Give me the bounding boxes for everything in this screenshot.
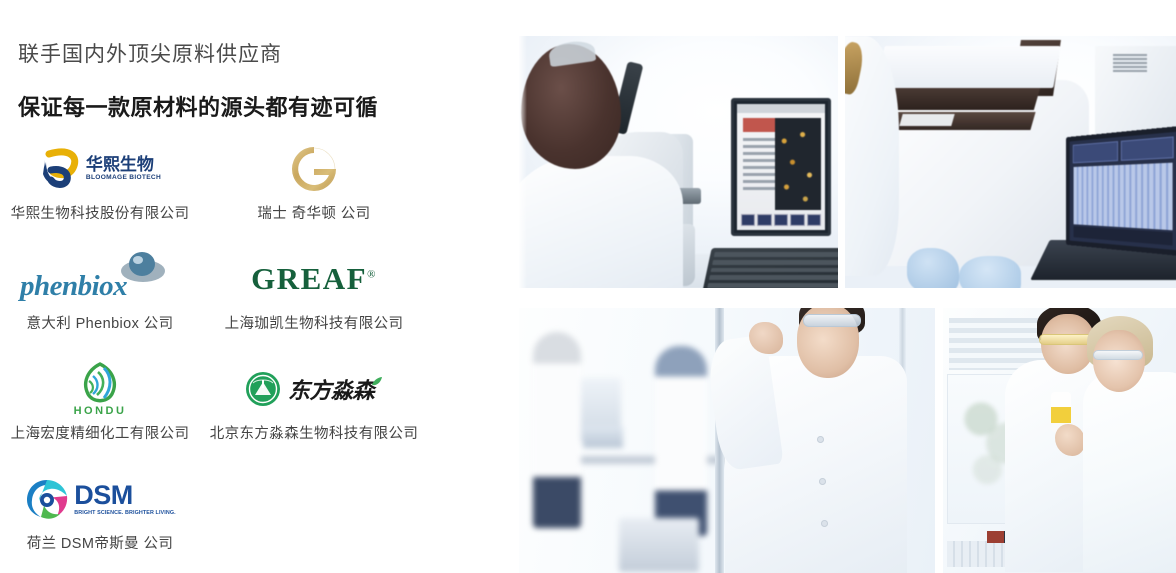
- dongfang-miaosen-emblem-icon: [245, 371, 281, 407]
- supplier-caption: 华熙生物科技股份有限公司: [11, 202, 190, 223]
- page-title: 保证每一款原材料的源头都有迹可循: [18, 90, 378, 122]
- hondu-leaf-icon: [78, 362, 122, 404]
- dsm-logo: DSM BRIGHT SCIENCE. BRIGHTER LIVING.: [0, 470, 200, 528]
- supplier-card-bloomage[interactable]: 华熙生物 BLOOMAGE BIOTECH 华熙生物科技股份有限公司: [0, 140, 200, 250]
- supplier-logo-grid: 华熙生物 BLOOMAGE BIOTECH 华熙生物科技股份有限公司: [0, 140, 460, 573]
- supplier-caption: 意大利 Phenbiox 公司: [26, 312, 173, 333]
- supplier-card-greaf[interactable]: GREAF® 上海珈凯生物科技有限公司: [214, 250, 414, 360]
- photo-lab-team: [519, 308, 935, 573]
- greaf-logo: GREAF®: [214, 250, 414, 308]
- photo-two-scientists-sample: [943, 308, 1176, 573]
- bloomage-logo-en: BLOOMAGE BIOTECH: [86, 175, 161, 182]
- dongfang-miaosen-logo: 东方淼森: [214, 360, 414, 418]
- supplier-card-dongfang-miaosen[interactable]: 东方淼森 北京东方淼森生物科技有限公司: [214, 360, 414, 470]
- leaf-accent-icon: [371, 376, 383, 388]
- supplier-card-givaudan[interactable]: 瑞士 奇华顿 公司: [214, 140, 414, 250]
- phenbiox-logo: phenbiox: [0, 250, 200, 308]
- supplier-card-phenbiox[interactable]: phenbiox 意大利 Phenbiox 公司: [0, 250, 200, 360]
- greaf-registered-mark: ®: [367, 269, 377, 281]
- givaudan-logo: [214, 140, 414, 198]
- bloomage-logo: 华熙生物 BLOOMAGE BIOTECH: [0, 140, 200, 198]
- phenbiox-wordmark: phenbiox: [20, 270, 127, 303]
- left-content-column: 联手国内外顶尖原料供应商 保证每一款原材料的源头都有迹可循 华熙生物: [0, 0, 500, 573]
- dongfang-miaosen-wordmark: 东方淼森: [288, 373, 374, 405]
- supplier-caption: 荷兰 DSM帝斯曼 公司: [27, 532, 174, 553]
- greaf-wordmark: GREAF: [251, 261, 367, 296]
- givaudan-g-icon: [291, 146, 337, 192]
- dsm-tagline: BRIGHT SCIENCE. BRIGHTER LIVING.: [74, 511, 175, 516]
- hondu-wordmark: HONDU: [74, 405, 127, 417]
- dsm-swirl-icon: [24, 477, 70, 521]
- supplier-card-hondu[interactable]: HONDU 上海宏度精细化工有限公司: [0, 360, 200, 470]
- dsm-wordmark: DSM: [74, 482, 175, 509]
- supplier-caption: 上海宏度精细化工有限公司: [11, 422, 190, 443]
- section-subtitle: 联手国内外顶尖原料供应商: [18, 38, 282, 68]
- supplier-showcase-page: 联手国内外顶尖原料供应商 保证每一款原材料的源头都有迹可循 华熙生物: [0, 0, 1176, 573]
- photo-lab-analyzer-laptop: [845, 36, 1176, 288]
- supplier-caption: 北京东方淼森生物科技有限公司: [210, 422, 419, 443]
- supplier-card-dsm[interactable]: DSM BRIGHT SCIENCE. BRIGHTER LIVING. 荷兰 …: [0, 470, 200, 573]
- supplier-caption: 上海珈凯生物科技有限公司: [225, 312, 404, 333]
- bloomage-swoosh-icon: [39, 146, 81, 192]
- photo-microscope-researcher: [519, 36, 838, 288]
- hondu-logo: HONDU: [0, 360, 200, 418]
- supplier-caption: 瑞士 奇华顿 公司: [257, 202, 370, 223]
- bloomage-logo-cn: 华熙生物: [86, 156, 161, 173]
